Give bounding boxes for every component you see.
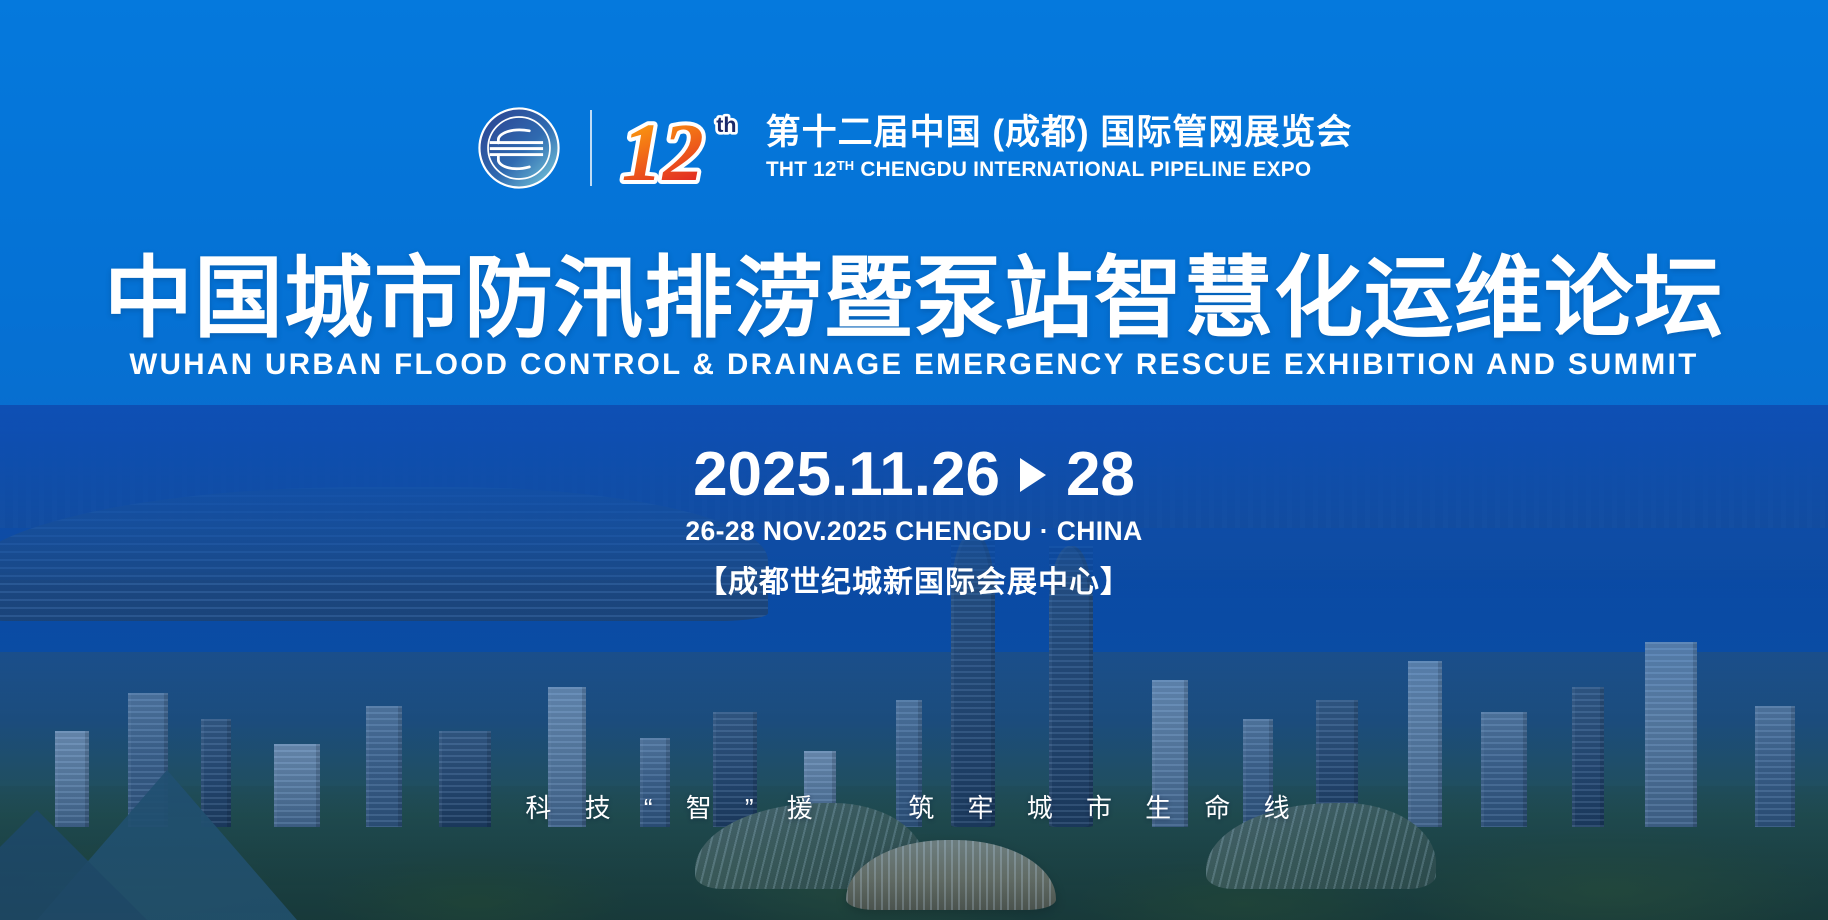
event-tagline: 科 技 “ 智 ” 援 筑 牢 城 市 生 命 线	[0, 788, 1828, 825]
svg-text:th: th	[716, 113, 736, 137]
date-en-line: 26-28 NOV.2025 CHENGDU · CHINA	[0, 516, 1828, 547]
header-cn-title: 第十二届中国 (成都) 国际管网展览会	[766, 113, 1353, 152]
date-start: 2025.11.26	[693, 442, 1000, 507]
event-date-range: 2025.11.26 28	[693, 442, 1135, 507]
main-en-subtitle: WUHAN URBAN FLOOD CONTROL & DRAINAGE EME…	[0, 348, 1828, 382]
header-en-prefix: THT 12	[766, 157, 837, 181]
expo-banner: 12 12 th th 第十二届中国 (成都) 国际管网展览会 THT 12TH…	[0, 0, 1828, 920]
date-end: 28	[1066, 442, 1135, 507]
header-en-rest: CHENGDU INTERNATIONAL PIPELINE EXPO	[854, 157, 1311, 181]
header-divider	[590, 110, 592, 186]
header-en-ordinal: TH	[836, 158, 854, 173]
svg-text:12: 12	[621, 107, 703, 193]
pipeline-network-circular-emblem	[476, 105, 562, 191]
header-en-title: THT 12TH CHENGDU INTERNATIONAL PIPELINE …	[766, 156, 1335, 183]
main-cn-title: 中国城市防汛排涝暨泵站智慧化运维论坛	[0, 252, 1828, 345]
tagline-part-1: 科 技 “ 智 ” 援	[525, 793, 825, 823]
expo-header: 12 12 th th 第十二届中国 (成都) 国际管网展览会 THT 12TH…	[0, 103, 1828, 193]
twelfth-edition-graphic: 12 12 th th	[618, 103, 752, 193]
venue-name: 【成都世纪城新国际会展中心】	[0, 557, 1828, 601]
play-triangle-icon	[1020, 458, 1046, 492]
tagline-part-2: 筑 牢 城 市 生 命 线	[908, 793, 1302, 823]
date-block: 2025.11.26 28 26-28 NOV.2025 CHENGDU · C…	[0, 442, 1828, 601]
header-titles: 第十二届中国 (成都) 国际管网展览会 THT 12TH CHENGDU INT…	[766, 113, 1353, 182]
